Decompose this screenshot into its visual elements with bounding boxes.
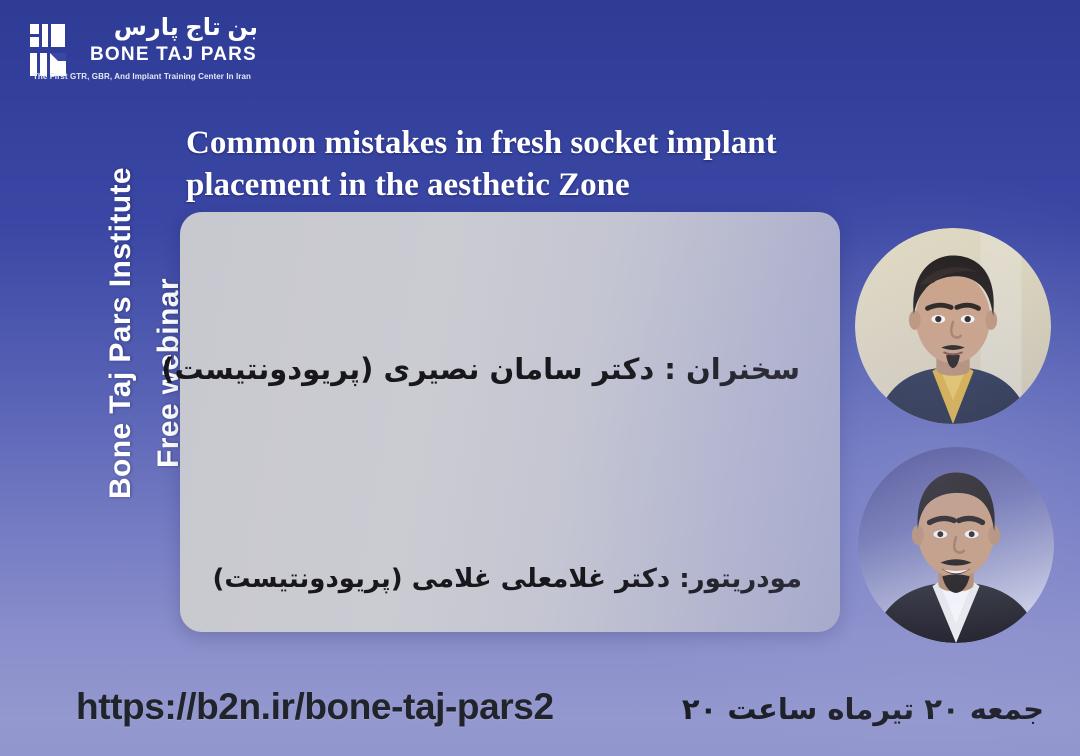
registration-url[interactable]: https://b2n.ir/bone-taj-pars2 xyxy=(76,686,554,728)
logo-text: بن تاج پارس BONE TAJ PARS xyxy=(90,16,258,66)
webinar-poster: بن تاج پارس BONE TAJ PARS The First GTR,… xyxy=(0,0,1080,756)
page-title: Common mistakes in fresh socket implant … xyxy=(186,122,906,206)
sidebar-institute-label: Bone Taj Pars Institute xyxy=(104,133,138,533)
bip-monogram-icon xyxy=(28,22,86,78)
logo-tagline: The First GTR, GBR, And Implant Training… xyxy=(28,72,256,81)
moderator-portrait xyxy=(858,447,1054,643)
brand-logo: بن تاج پارس BONE TAJ PARS The First GTR,… xyxy=(28,16,258,84)
moderator-label: مودریتور: دکتر غلامعلی غلامی (پریودونتیس… xyxy=(212,564,802,594)
logo-persian-name: بن تاج پارس xyxy=(90,16,258,44)
speakers-card: سخنران : دکتر سامان نصیری (پریودونتیست) … xyxy=(180,212,840,632)
logo-english-name: BONE TAJ PARS xyxy=(90,45,258,66)
event-datetime: جمعه ۲۰ تیرماه ساعت ۲۰ xyxy=(682,692,1044,726)
speaker-portrait xyxy=(855,228,1051,424)
speaker-label: سخنران : دکتر سامان نصیری (پریودونتیست) xyxy=(161,352,800,386)
